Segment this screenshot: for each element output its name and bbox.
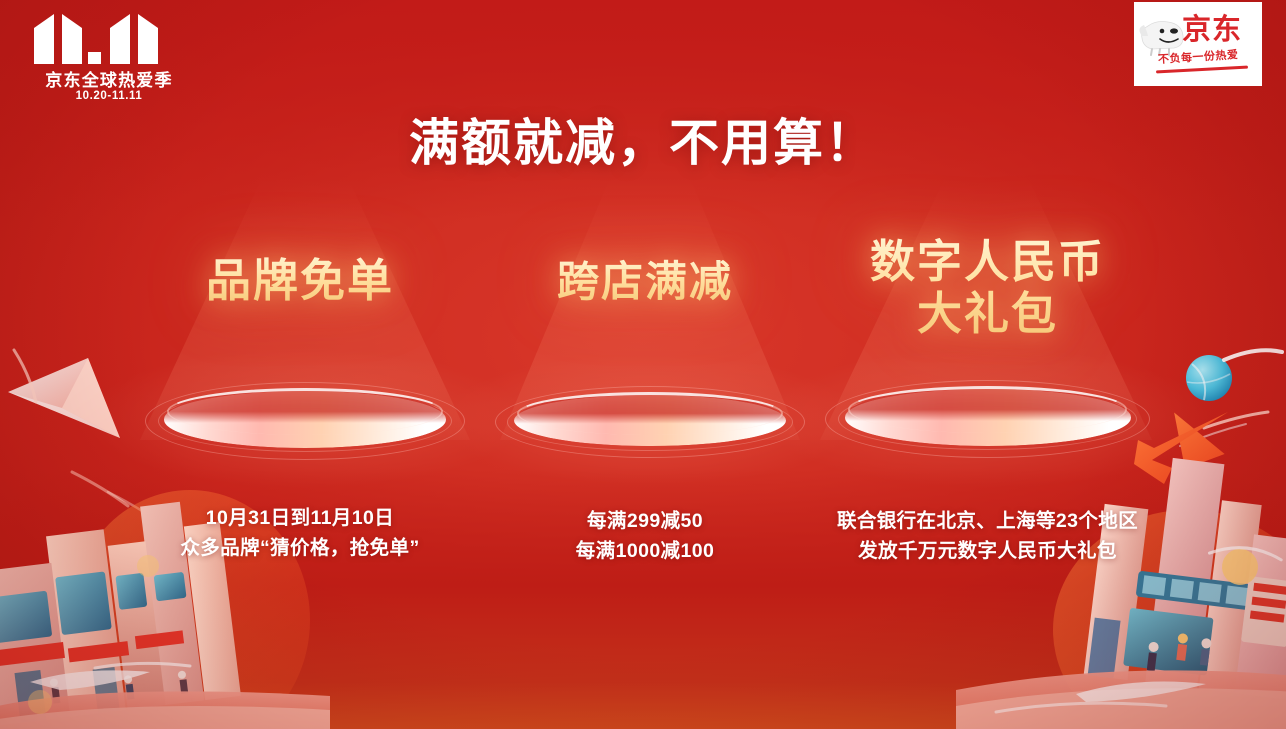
promo-description: 10月31日到11月10日 众多品牌“猜价格，抢免单” (130, 503, 470, 563)
promo-description-line: 众多品牌“猜价格，抢免单” (130, 533, 470, 563)
promo-description-line: 每满299减50 (490, 506, 800, 536)
promo-description-line: 10月31日到11月10日 (130, 503, 470, 533)
promo-description-line: 发放千万元数字人民币大礼包 (815, 536, 1160, 566)
promo-column-brand-free-order[interactable]: 品牌免单 10月31日到11月10日 众多品牌“猜价格，抢免单” (130, 0, 470, 729)
promo-description: 联合银行在北京、上海等23个地区 发放千万元数字人民币大礼包 (815, 506, 1160, 566)
promo-heading-line: 数字人民币 (815, 236, 1160, 288)
promo-heading: 品牌免单 (130, 255, 470, 307)
promo-heading-line: 大礼包 (815, 288, 1160, 340)
promo-banner: 京东全球热爱季 10.20-11.11 京东 不负每一份热爱 满额就减，不用算！ (0, 0, 1286, 729)
promo-description-line: 联合银行在北京、上海等23个地区 (815, 506, 1160, 536)
promo-heading-line: 品牌免单 (130, 255, 470, 307)
promo-column-cross-store-discount[interactable]: 跨店满减 每满299减50 每满1000减100 (490, 0, 800, 729)
jd-underline (1156, 66, 1248, 74)
promo-heading-line: 跨店满减 (490, 258, 800, 307)
promo-description-line: 每满1000减100 (490, 536, 800, 566)
promo-heading: 数字人民币 大礼包 (815, 236, 1160, 340)
promo-heading: 跨店满减 (490, 258, 800, 307)
jd-wordmark: 京东 (1182, 16, 1242, 45)
jd-tagline: 不负每一份热爱 (1158, 46, 1239, 67)
promo-column-digital-rmb-gift[interactable]: 数字人民币 大礼包 联合银行在北京、上海等23个地区 发放千万元数字人民币大礼包 (815, 0, 1160, 729)
promo-description: 每满299减50 每满1000减100 (490, 506, 800, 566)
